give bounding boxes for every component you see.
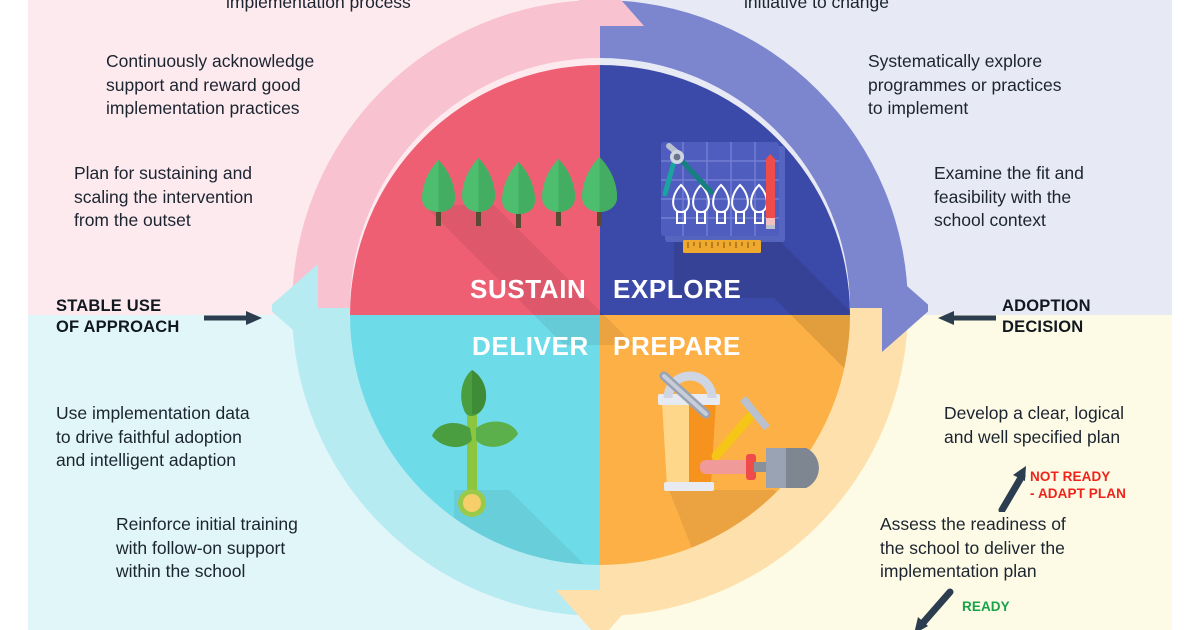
stable-use-arrow-icon bbox=[204, 308, 264, 328]
blueprint-chart-icon bbox=[661, 142, 785, 253]
note-explore-bottom: Examine the fit and feasibility with the… bbox=[934, 162, 1084, 233]
note-sustain-top: Continuously acknowledge support and rew… bbox=[106, 50, 314, 121]
decision-label-ready: READY bbox=[962, 598, 1010, 615]
ruler-icon bbox=[683, 240, 761, 253]
stage-label-adoption-decision: ADOPTION DECISION bbox=[1002, 296, 1091, 338]
quadrant-label-sustain: SUSTAIN bbox=[470, 274, 586, 305]
quadrant-label-deliver: DELIVER bbox=[472, 331, 589, 362]
cycle-disc bbox=[304, 0, 896, 630]
quadrant-label-explore: EXPLORE bbox=[613, 274, 741, 305]
decision-label-not-ready: NOT READY - ADAPT PLAN bbox=[1030, 468, 1126, 502]
note-deliver-top: Use implementation data to drive faithfu… bbox=[56, 402, 250, 473]
note-prepare-bottom: Assess the readiness of the school to de… bbox=[880, 513, 1066, 584]
note-deliver-bottom: Reinforce initial training with follow-o… bbox=[116, 513, 298, 584]
ready-arrow-icon bbox=[908, 588, 956, 630]
not-ready-arrow-icon bbox=[996, 462, 1036, 512]
stage-label-stable-use: STABLE USE OF APPROACH bbox=[56, 296, 180, 338]
implementation-cycle-diagram: implementation process initiative to cha… bbox=[0, 0, 1200, 630]
pencil-icon bbox=[766, 154, 775, 229]
note-prepare-top: Develop a clear, logical and well specif… bbox=[944, 402, 1124, 449]
note-explore-top: Systematically explore programmes or pra… bbox=[868, 50, 1062, 121]
adoption-decision-arrow-icon bbox=[936, 308, 996, 328]
quadrant-label-prepare: PREPARE bbox=[613, 331, 741, 362]
shadow-tools bbox=[669, 490, 896, 630]
note-sustain-bottom: Plan for sustaining and scaling the inte… bbox=[74, 162, 253, 233]
disc-quadrant-deliver bbox=[304, 315, 600, 630]
